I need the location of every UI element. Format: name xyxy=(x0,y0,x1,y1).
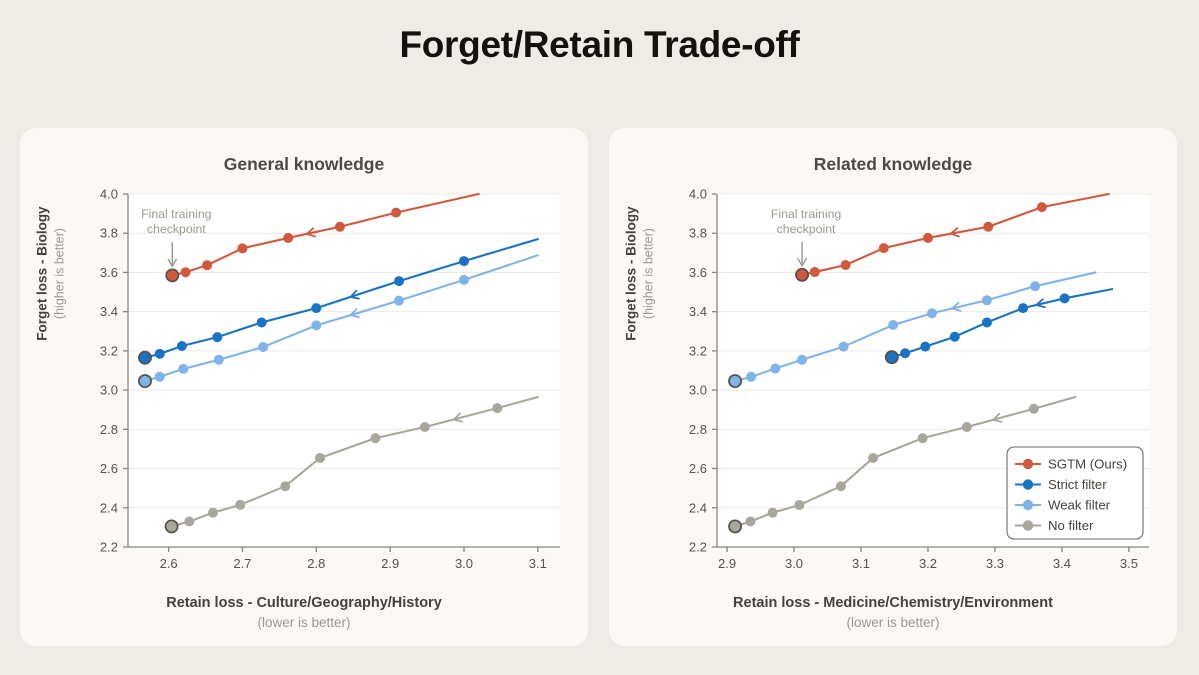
checkpoint-marker xyxy=(796,269,808,281)
data-point-marker xyxy=(888,320,898,330)
y-axis-sublabel: (higher is better) xyxy=(641,169,658,379)
x-axis-tick-label: 3.5 xyxy=(1120,556,1138,571)
annotation-line-2: checkpoint xyxy=(147,222,206,236)
legend-item-label: Weak filter xyxy=(1048,498,1111,513)
data-point-marker xyxy=(178,364,188,374)
x-axis-sublabel: (lower is better) xyxy=(20,614,588,632)
x-axis-tick-label: 3.0 xyxy=(455,556,473,571)
x-axis-label-related: Retain loss - Medicine/Chemistry/Environ… xyxy=(609,594,1177,632)
plot-area-general: 2.22.42.62.83.03.23.43.63.84.02.62.72.82… xyxy=(20,128,588,646)
y-axis-tick-label: 4.0 xyxy=(689,187,707,202)
y-axis-tick-label: 3.2 xyxy=(689,343,707,358)
data-point-marker xyxy=(918,433,928,443)
data-point-marker xyxy=(927,308,937,318)
y-axis-tick-label: 3.0 xyxy=(689,383,707,398)
data-point-marker xyxy=(420,422,430,432)
data-point-marker xyxy=(237,243,247,253)
data-point-marker xyxy=(1029,404,1039,414)
y-axis-label-related: Forget loss - Biology (higher is better) xyxy=(622,169,657,379)
x-axis-tick-label: 2.9 xyxy=(718,556,736,571)
legend-swatch-marker xyxy=(1023,479,1033,489)
chart-panel-related-knowledge: Related knowledge 2.22.42.62.83.03.23.43… xyxy=(609,128,1177,646)
data-point-marker xyxy=(459,256,469,266)
y-axis-tick-label: 3.4 xyxy=(100,304,118,319)
y-axis-tick-label: 3.0 xyxy=(100,383,118,398)
y-axis-label-general: Forget loss - Biology (higher is better) xyxy=(33,169,68,379)
data-point-marker xyxy=(982,317,992,327)
legend-item-label: No filter xyxy=(1048,518,1094,533)
data-point-marker xyxy=(315,453,325,463)
data-point-marker xyxy=(950,332,960,342)
data-point-marker xyxy=(280,481,290,491)
data-point-marker xyxy=(982,295,992,305)
annotation-line-1: Final training xyxy=(771,207,842,221)
x-axis-tick-label: 3.2 xyxy=(919,556,937,571)
data-point-marker xyxy=(797,355,807,365)
data-point-marker xyxy=(1018,303,1028,313)
y-axis-tick-label: 2.6 xyxy=(100,461,118,476)
checkpoint-marker xyxy=(729,520,741,532)
page-title: Forget/Retain Trade-off xyxy=(0,24,1199,66)
data-point-marker xyxy=(962,422,972,432)
data-point-marker xyxy=(900,348,910,358)
x-axis-label-general: Retain loss - Culture/Geography/History … xyxy=(20,594,588,632)
y-axis-tick-label: 3.6 xyxy=(100,265,118,280)
x-axis-tick-label: 3.1 xyxy=(529,556,547,571)
x-axis-tick-label: 3.1 xyxy=(852,556,870,571)
data-point-marker xyxy=(1060,293,1070,303)
x-axis-tick-label: 2.8 xyxy=(307,556,325,571)
y-axis-tick-label: 2.8 xyxy=(100,422,118,437)
data-point-marker xyxy=(202,260,212,270)
data-point-marker xyxy=(879,243,889,253)
data-point-marker xyxy=(370,433,380,443)
data-point-marker xyxy=(923,233,933,243)
plot-svg-related: 2.22.42.62.83.03.23.43.63.84.02.93.03.13… xyxy=(609,128,1177,646)
checkpoint-marker xyxy=(886,351,898,363)
legend-item-label: SGTM (Ours) xyxy=(1048,457,1127,472)
data-point-marker xyxy=(258,342,268,352)
x-axis-tick-label: 3.0 xyxy=(785,556,803,571)
data-point-marker xyxy=(868,453,878,463)
data-point-marker xyxy=(311,303,321,313)
data-point-marker xyxy=(839,342,849,352)
y-axis-tick-label: 2.8 xyxy=(689,422,707,437)
y-axis-tick-label: 3.6 xyxy=(689,265,707,280)
data-point-marker xyxy=(235,500,245,510)
y-axis-tick-label: 4.0 xyxy=(100,187,118,202)
data-point-marker xyxy=(1030,281,1040,291)
y-axis-label-text: Forget loss - Biology xyxy=(623,206,638,340)
data-point-marker xyxy=(770,364,780,374)
y-axis-tick-label: 3.2 xyxy=(100,343,118,358)
checkpoint-marker xyxy=(166,269,178,281)
data-point-marker xyxy=(214,355,224,365)
y-axis-tick-label: 2.2 xyxy=(689,540,707,555)
y-axis-tick-label: 2.2 xyxy=(100,540,118,555)
chart-legend[interactable]: SGTM (Ours)Strict filterWeak filterNo fi… xyxy=(1007,447,1143,539)
data-point-marker xyxy=(745,517,755,527)
legend-swatch-marker xyxy=(1023,500,1033,510)
x-axis-tick-label: 2.7 xyxy=(233,556,251,571)
data-point-marker xyxy=(841,260,851,270)
data-point-marker xyxy=(184,517,194,527)
checkpoint-marker xyxy=(139,375,151,387)
y-axis-sublabel: (higher is better) xyxy=(52,169,69,379)
legend-swatch-marker xyxy=(1023,459,1033,469)
annotation-line-1: Final training xyxy=(141,207,212,221)
data-point-marker xyxy=(155,372,165,382)
x-axis-tick-label: 2.9 xyxy=(381,556,399,571)
data-point-marker xyxy=(391,208,401,218)
data-point-marker xyxy=(746,372,756,382)
plot-svg-general: 2.22.42.62.83.03.23.43.63.84.02.62.72.82… xyxy=(20,128,588,646)
data-point-marker xyxy=(181,267,191,277)
checkpoint-marker xyxy=(729,375,741,387)
y-axis-tick-label: 2.4 xyxy=(689,500,707,515)
data-point-marker xyxy=(810,267,820,277)
page-root: Forget/Retain Trade-off General knowledg… xyxy=(0,0,1199,675)
x-axis-tick-label: 2.6 xyxy=(160,556,178,571)
data-point-marker xyxy=(1037,202,1047,212)
data-point-marker xyxy=(257,317,267,327)
data-point-marker xyxy=(177,341,187,351)
data-point-marker xyxy=(311,320,321,330)
data-point-marker xyxy=(212,332,222,342)
x-axis-label-text: Retain loss - Medicine/Chemistry/Environ… xyxy=(733,595,1053,611)
plot-area-related: 2.22.42.62.83.03.23.43.63.84.02.93.03.13… xyxy=(609,128,1177,646)
annotation-line-2: checkpoint xyxy=(777,222,836,236)
data-point-marker xyxy=(208,508,218,518)
y-axis-tick-label: 2.6 xyxy=(689,461,707,476)
y-axis-tick-label: 3.8 xyxy=(100,226,118,241)
data-point-marker xyxy=(335,222,345,232)
y-axis-tick-label: 2.4 xyxy=(100,500,118,515)
checkpoint-marker xyxy=(139,352,151,364)
y-axis-label-text: Forget loss - Biology xyxy=(34,206,49,340)
data-point-marker xyxy=(459,275,469,285)
data-point-marker xyxy=(768,508,778,518)
data-point-marker xyxy=(394,296,404,306)
chart-panel-general-knowledge: General knowledge 2.22.42.62.83.03.23.43… xyxy=(20,128,588,646)
data-point-marker xyxy=(983,222,993,232)
legend-swatch-marker xyxy=(1023,520,1033,530)
x-axis-label-text: Retain loss - Culture/Geography/History xyxy=(166,595,442,611)
checkpoint-marker xyxy=(165,520,177,532)
data-point-marker xyxy=(155,349,165,359)
plot-background xyxy=(128,194,560,547)
data-point-marker xyxy=(394,276,404,286)
data-point-marker xyxy=(492,403,502,413)
legend-item-label: Strict filter xyxy=(1048,477,1107,492)
y-axis-tick-label: 3.4 xyxy=(689,304,707,319)
data-point-marker xyxy=(836,481,846,491)
data-point-marker xyxy=(283,233,293,243)
data-point-marker xyxy=(794,500,804,510)
data-point-marker xyxy=(920,342,930,352)
x-axis-tick-label: 3.3 xyxy=(986,556,1004,571)
x-axis-tick-label: 3.4 xyxy=(1053,556,1071,571)
y-axis-tick-label: 3.8 xyxy=(689,226,707,241)
x-axis-sublabel: (lower is better) xyxy=(609,614,1177,632)
